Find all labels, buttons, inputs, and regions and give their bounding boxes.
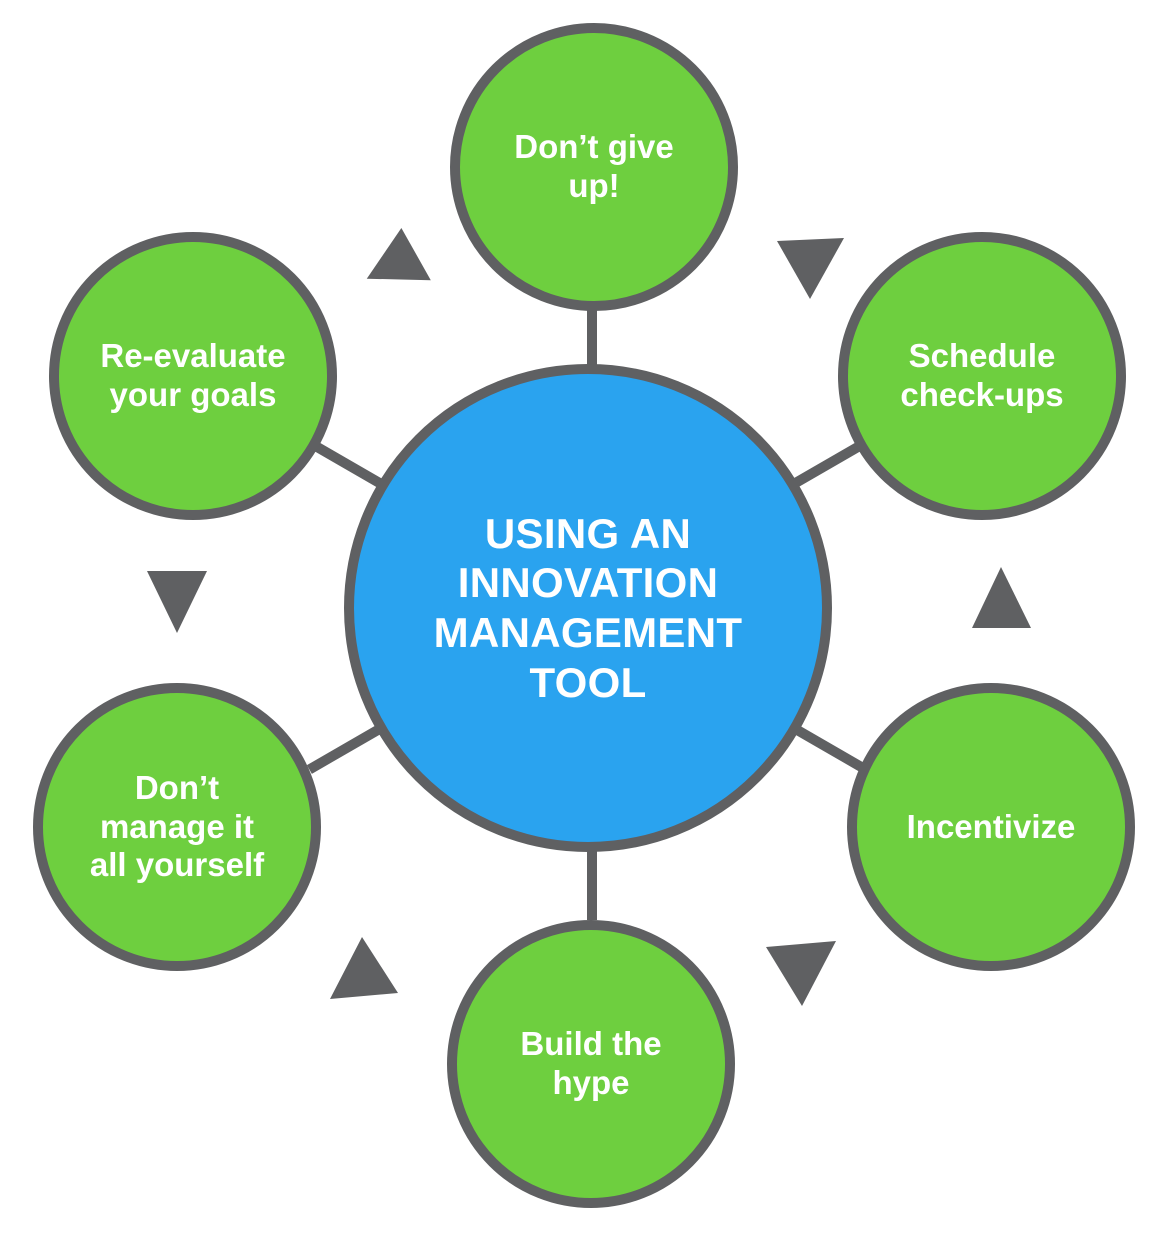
- arrow-down-icon-bottom-right: [766, 941, 836, 1006]
- arrow-down-icon-top-right: [777, 238, 844, 299]
- node-hit-schedule-check-ups[interactable]: [838, 232, 1126, 520]
- diagram-canvas: USING AN INNOVATION MANAGEMENT TOOL Don’…: [0, 0, 1167, 1242]
- node-hit-re-evaluate-your-goals[interactable]: [49, 232, 337, 520]
- arrow-up-icon-bottom-left: [330, 937, 398, 999]
- arrow-up-icon-right: [972, 567, 1031, 628]
- arrow-up-icon-top-left: [367, 226, 435, 283]
- node-hit-incentivize[interactable]: [847, 683, 1135, 971]
- node-hit-build-the-hype[interactable]: [447, 920, 735, 1208]
- arrow-down-icon-left: [147, 571, 207, 633]
- node-hit-dont-manage-it-all-yourself[interactable]: [33, 683, 321, 971]
- node-hit-dont-give-up[interactable]: [450, 23, 738, 311]
- node-hit-center[interactable]: [349, 369, 827, 847]
